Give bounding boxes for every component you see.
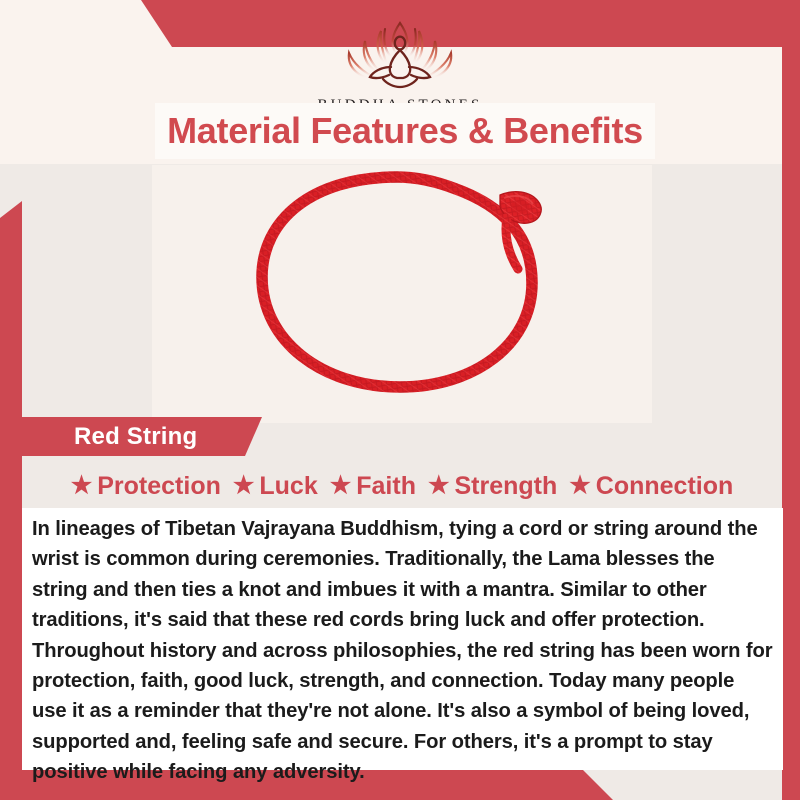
benefit-label: Faith <box>356 472 416 501</box>
benefit-faith: ★ Faith <box>324 472 422 501</box>
benefit-label: Protection <box>97 472 221 501</box>
red-string-bracelet-illustration <box>152 165 652 423</box>
benefit-label: Luck <box>259 472 317 501</box>
benefit-strength: ★ Strength <box>422 472 563 501</box>
star-icon: ★ <box>569 474 591 498</box>
star-icon: ★ <box>428 474 450 498</box>
benefit-label: Connection <box>596 472 734 501</box>
product-photo <box>152 165 652 423</box>
infographic-page: BUDDHA STONES Material Features & Benefi… <box>0 0 800 800</box>
description-paragraph: In lineages of Tibetan Vajrayana Buddhis… <box>26 514 783 788</box>
brand-logo: BUDDHA STONES <box>0 15 800 114</box>
star-icon: ★ <box>330 474 352 498</box>
product-name-label: Red String <box>74 423 197 451</box>
right-red-stripe <box>782 0 800 800</box>
benefit-connection: ★ Connection <box>563 472 739 501</box>
product-name-ribbon: Red String <box>22 417 262 456</box>
star-icon: ★ <box>71 474 93 498</box>
star-icon: ★ <box>233 474 255 498</box>
page-title: Material Features & Benefits <box>167 110 643 152</box>
benefit-luck: ★ Luck <box>227 472 324 501</box>
benefits-row: ★ Protection ★ Luck ★ Faith ★ Strength ★… <box>22 466 782 506</box>
lotus-meditation-icon <box>0 15 800 96</box>
description-card: In lineages of Tibetan Vajrayana Buddhis… <box>22 508 783 770</box>
benefit-label: Strength <box>454 472 557 501</box>
benefit-protection: ★ Protection <box>65 472 227 501</box>
headline-banner: Material Features & Benefits <box>155 103 655 159</box>
